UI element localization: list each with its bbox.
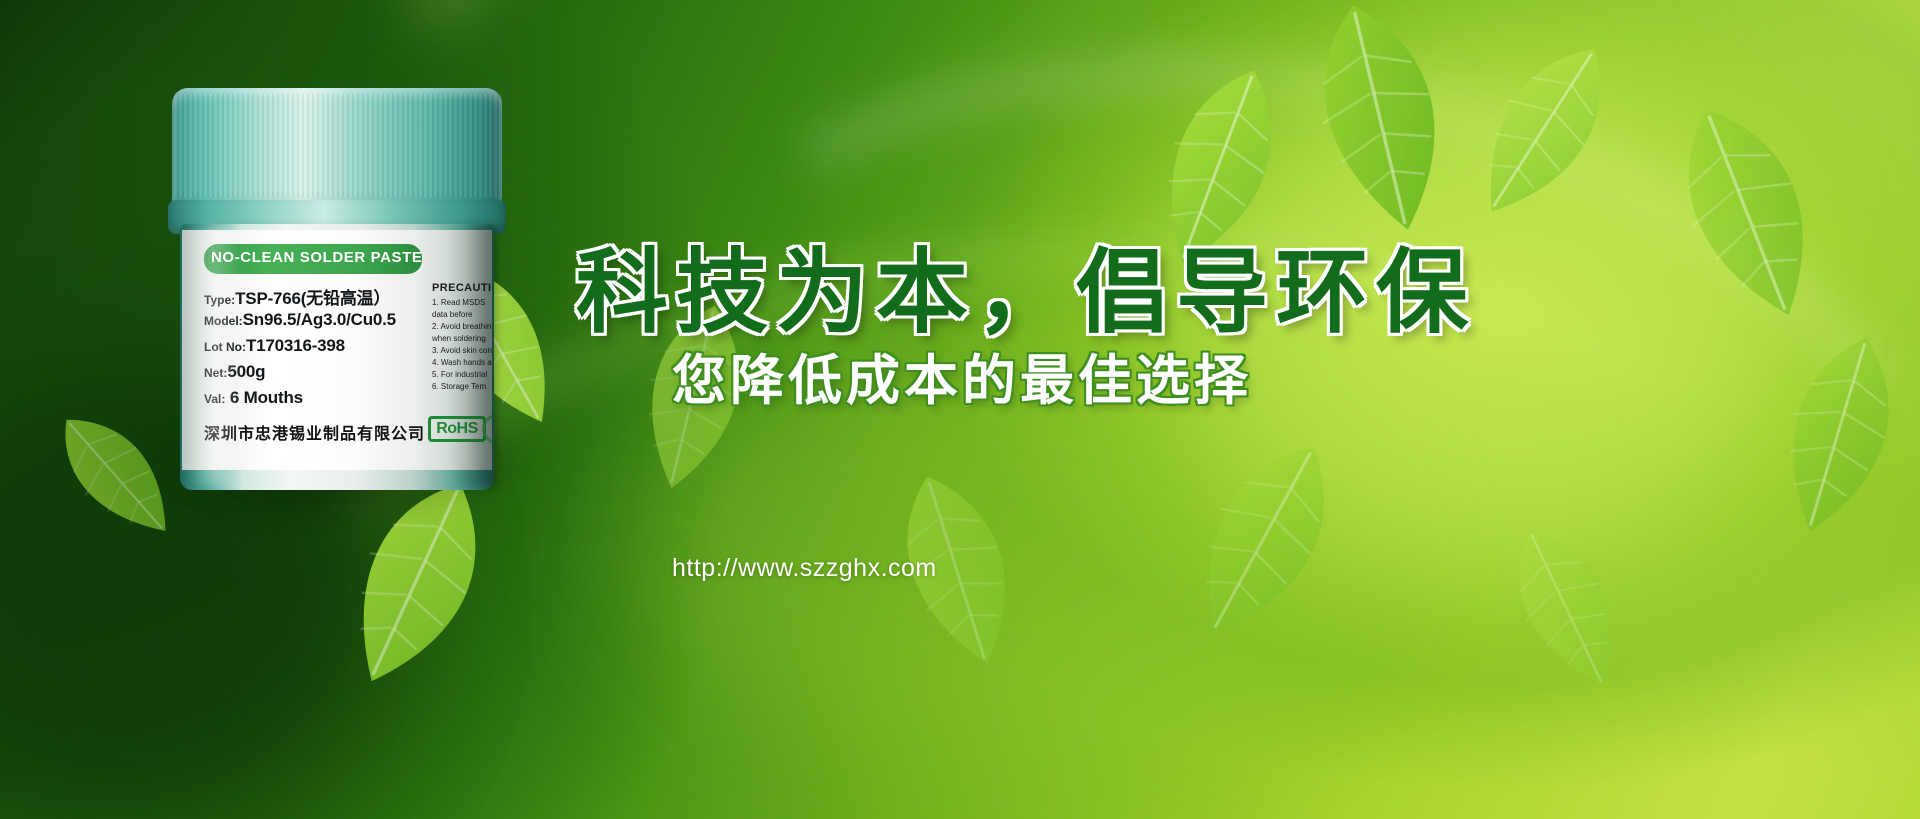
label-field-value: Sn96.5/Ag3.0/Cu0.5 <box>243 310 396 329</box>
label-field-val: Val: 6 Mouths <box>204 388 303 408</box>
label-field-value: T170316-398 <box>246 336 345 355</box>
website-url: http://www.szzghx.com <box>672 554 937 583</box>
leaf-icon <box>1136 405 1385 676</box>
leaf-icon <box>1731 312 1920 558</box>
label-title-band: NO-CLEAN SOLDER PASTE <box>204 244 422 274</box>
label-field-lot-no: Lot No:T170316-398 <box>204 336 345 356</box>
precaution-item: 4. Wash hands af <box>432 357 492 369</box>
label-field-type: Type:TSP-766(无铅高温） <box>204 284 390 309</box>
precaution-block: PRECAUTION 1. Read MSDS data before 2. A… <box>432 282 492 393</box>
label-field-key: Net: <box>204 366 227 380</box>
solder-paste-jar: NO-CLEAN SOLDER PASTE Type:TSP-766(无铅高温）… <box>158 88 518 508</box>
label-field-key: Type: <box>204 293 235 307</box>
label-field-value: 500g <box>227 362 265 381</box>
precaution-item: when soldering <box>432 333 492 345</box>
precaution-item: 1. Read MSDS <box>432 297 492 309</box>
banner-subheadline: 您降低成本的最佳选择 <box>672 336 1252 415</box>
leaf-icon <box>1426 8 1654 252</box>
leaf-icon <box>1626 78 1864 352</box>
label-field-model: Model:Sn96.5/Ag3.0/Cu0.5 <box>204 310 396 330</box>
precaution-title: PRECAUTION <box>432 282 492 294</box>
jar-lid <box>172 88 502 216</box>
precaution-item: 6. Storage Tem <box>432 381 492 393</box>
leaf-icon <box>1469 501 1661 718</box>
precaution-item: 5. For industrial <box>432 369 492 381</box>
label-field-value: 6 Mouths <box>225 388 303 407</box>
manufacturer-name: 深圳市忠港锡业制品有限公司 <box>204 420 425 444</box>
precaution-item: data before <box>432 309 492 321</box>
banner-headline: 科技为本，倡导环保 <box>576 218 1476 351</box>
label-title-text: NO-CLEAN SOLDER PASTE <box>211 249 423 266</box>
product-label: NO-CLEAN SOLDER PASTE Type:TSP-766(无铅高温）… <box>182 230 492 470</box>
precaution-item: 2. Avoid breathing <box>432 321 492 333</box>
label-field-net: Net:500g <box>204 362 265 382</box>
label-field-key: Val: <box>204 392 225 406</box>
rohs-badge: RoHS <box>428 416 486 442</box>
label-field-key: Lot No: <box>204 340 246 354</box>
label-field-key: Model: <box>204 314 243 328</box>
label-field-value: TSP-766(无铅高温） <box>235 289 390 308</box>
promotional-banner: NO-CLEAN SOLDER PASTE Type:TSP-766(无铅高温）… <box>0 0 1920 819</box>
rohs-label: RoHS <box>436 420 478 438</box>
precaution-item: 3. Avoid skin con <box>432 345 492 357</box>
